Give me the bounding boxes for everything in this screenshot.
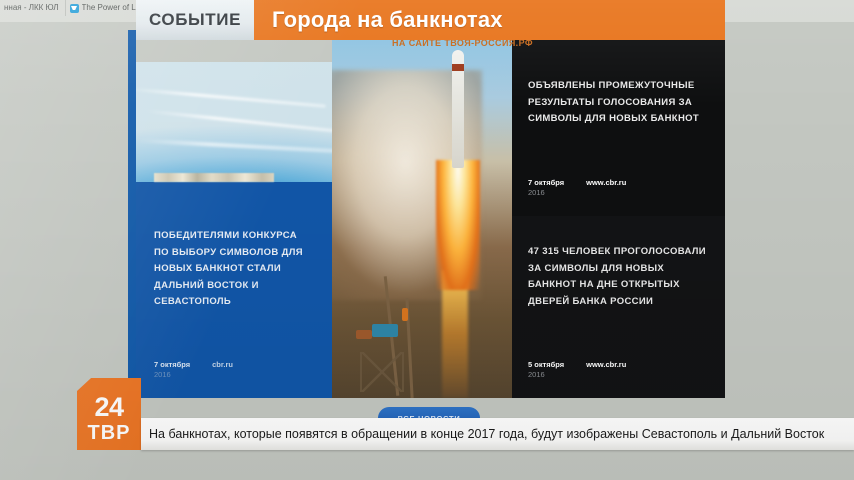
twitter-icon (70, 4, 79, 13)
contrail-3 (136, 139, 332, 154)
tile-dark-bottom-headline: 47 315 ЧЕЛОВЕК ПРОГОЛОСОВАЛИ ЗА СИМВОЛЫ … (528, 244, 709, 310)
tile-dark-bottom-year: 2016 (528, 370, 564, 380)
tile-blue-headline: ПОБЕДИТЕЛЯМИ КОНКУРСА ПО ВЫБОРУ СИМВОЛОВ… (154, 228, 314, 311)
contrail-2 (146, 110, 332, 134)
tile-blue-date-text: 7 октября (154, 360, 190, 369)
browser-tab-1-title: нная - ЛКК ЮЛ (4, 0, 59, 16)
news-ticker: На банкнотах, которые появятся в обращен… (141, 418, 854, 450)
tile-dark-top-link[interactable]: www.cbr.ru (586, 178, 626, 188)
tile-dark-top-year: 2016 (528, 188, 564, 198)
skyline-silhouette (154, 173, 274, 182)
broadcast-lower-third: 24 ТВР На банкнотах, которые появятся в … (0, 418, 854, 456)
tile-dark-top-news[interactable]: ОБЪЯВЛЕНЫ ПРОМЕЖУТОЧНЫЕ РЕЗУЛЬТАТЫ ГОЛОС… (512, 40, 725, 216)
rocket-flame (436, 160, 480, 290)
pad-truck-2 (356, 330, 372, 339)
tile-dark-bottom-date-text: 5 октября (528, 360, 564, 369)
tile-blue-news[interactable]: ПОБЕДИТЕЛЯМИ КОНКУРСА ПО ВЫБОРУ СИМВОЛОВ… (136, 202, 332, 398)
event-banner-title: Города на банкнотах (254, 0, 725, 40)
channel-logo: 24 ТВР (77, 378, 141, 450)
pad-worker (402, 308, 408, 321)
tv-broadcast-screen: нная - ЛКК ЮЛ The Power of Ligh Избранно… (0, 0, 854, 480)
tile-blue-meta: 7 октября 2016 cbr.ru (154, 360, 233, 380)
tile-dark-bottom-link[interactable]: www.cbr.ru (586, 360, 626, 370)
news-tile-grid: ПОБЕДИТЕЛЯМИ КОНКУРСА ПО ВЫБОРУ СИМВОЛОВ… (136, 40, 725, 398)
pad-tower (360, 352, 404, 392)
tile-dark-bottom-meta: 5 октября 2016 www.cbr.ru (528, 360, 626, 380)
tile-blue-link[interactable]: cbr.ru (212, 360, 233, 370)
tile-blue-year: 2016 (154, 370, 190, 380)
event-banner-kicker: СОБЫТИЕ (136, 0, 254, 40)
tile-sky-photo[interactable] (136, 62, 332, 202)
tile-dark-top-date: 7 октября 2016 (528, 178, 564, 198)
tile-dark-top-date-text: 7 октября (528, 178, 564, 187)
water-band (136, 182, 332, 202)
pad-truck (372, 324, 398, 337)
tile-dark-top-headline: ОБЪЯВЛЕНЫ ПРОМЕЖУТОЧНЫЕ РЕЗУЛЬТАТЫ ГОЛОС… (528, 78, 709, 128)
event-banner: СОБЫТИЕ Города на банкнотах (136, 0, 725, 40)
tile-dark-bottom-news[interactable]: 47 315 ЧЕЛОВЕК ПРОГОЛОСОВАЛИ ЗА СИМВОЛЫ … (512, 216, 725, 398)
tile-dark-top-meta: 7 октября 2016 www.cbr.ru (528, 178, 626, 198)
browser-tab-1[interactable]: нная - ЛКК ЮЛ (0, 0, 66, 16)
tile-blue-date: 7 октября 2016 (154, 360, 190, 380)
tile-rocket-photo[interactable] (332, 40, 512, 398)
channel-logo-name: ТВР (88, 423, 131, 443)
rocket-band (452, 64, 464, 71)
tile-dark-bottom-date: 5 октября 2016 (528, 360, 564, 380)
channel-logo-number: 24 (94, 394, 123, 421)
contrail-1 (136, 87, 326, 107)
site-left-rail (128, 30, 136, 398)
